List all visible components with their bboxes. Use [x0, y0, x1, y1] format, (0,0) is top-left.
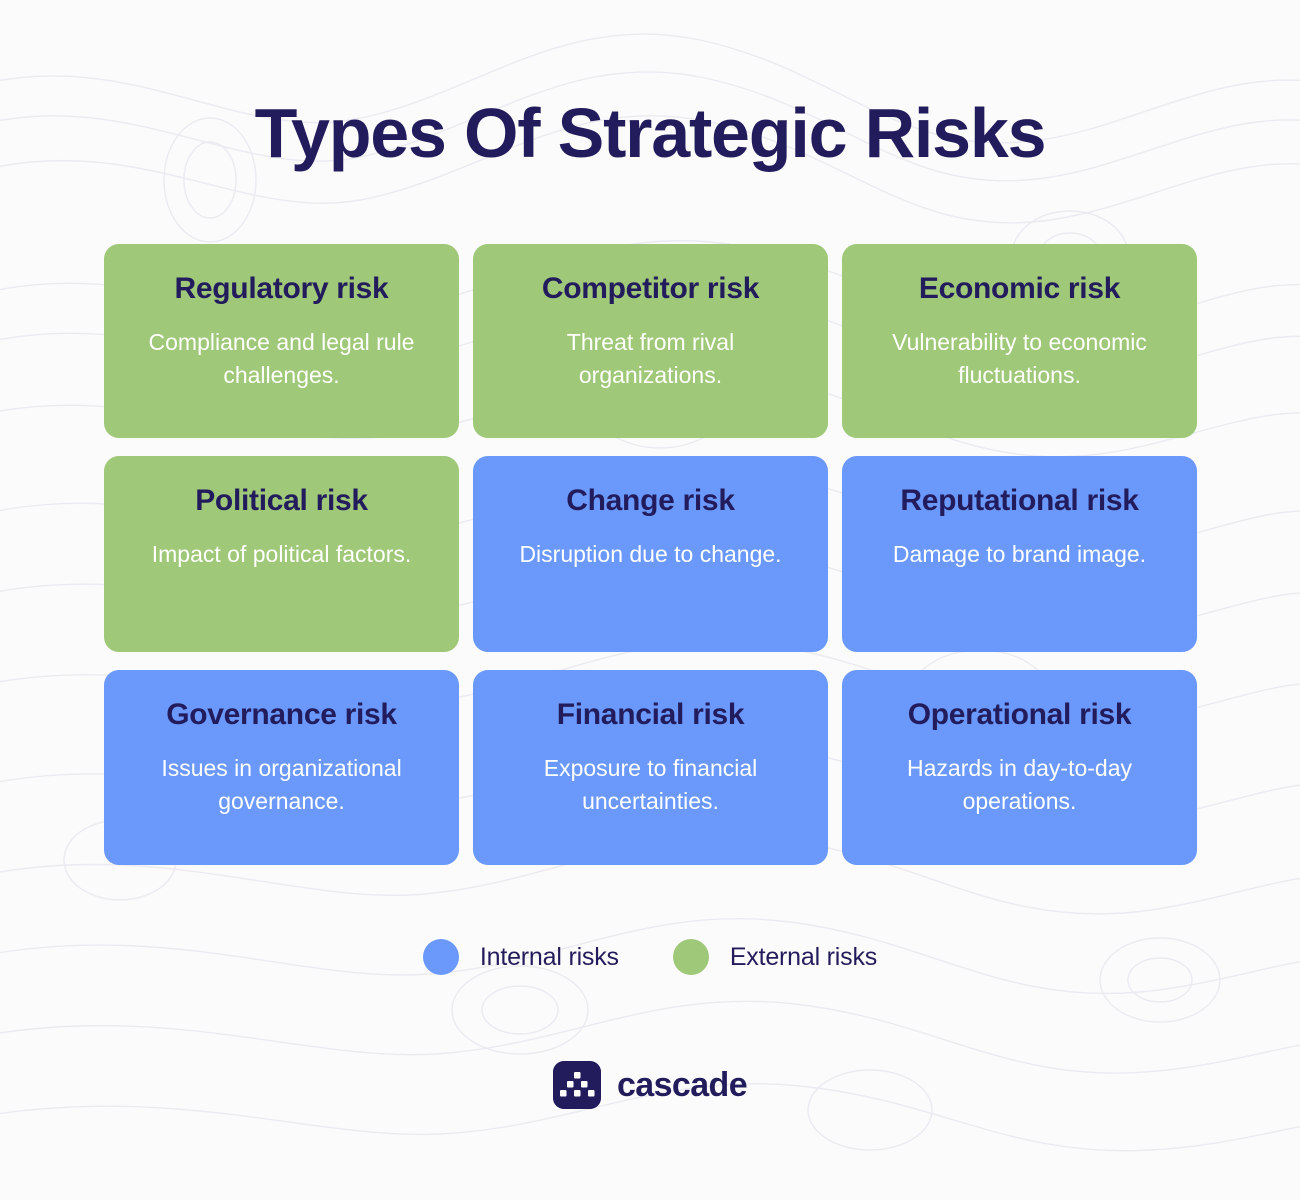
risk-card-financial[interactable]: Financial risk Exposure to financial unc…	[473, 670, 828, 865]
risk-card-title: Economic risk	[919, 272, 1120, 306]
infographic-page: Types Of Strategic Risks Regulatory risk…	[0, 0, 1300, 1200]
page-title: Types Of Strategic Risks	[255, 98, 1046, 168]
risk-card-description: Disruption due to change.	[519, 538, 781, 571]
risk-card-description: Issues in organizational governance.	[130, 752, 433, 819]
risk-card-title: Financial risk	[557, 698, 745, 732]
risk-card-title: Competitor risk	[542, 272, 759, 306]
risk-card-description: Vulnerability to economic fluctuations.	[868, 326, 1171, 393]
risk-card-change[interactable]: Change risk Disruption due to change.	[473, 456, 828, 652]
risk-card-operational[interactable]: Operational risk Hazards in day-to-day o…	[842, 670, 1197, 865]
legend: Internal risks External risks	[423, 939, 877, 975]
risk-card-description: Hazards in day-to-day operations.	[868, 752, 1171, 819]
legend-label-internal: Internal risks	[480, 943, 619, 972]
risk-card-reputational[interactable]: Reputational risk Damage to brand image.	[842, 456, 1197, 652]
cascade-pyramid-icon	[553, 1061, 601, 1109]
legend-item-external: External risks	[673, 939, 877, 975]
legend-dot-internal-icon	[423, 939, 459, 975]
risk-card-competitor[interactable]: Competitor risk Threat from rival organi…	[473, 244, 828, 438]
risk-card-title: Regulatory risk	[175, 272, 389, 306]
risk-card-regulatory[interactable]: Regulatory risk Compliance and legal rul…	[104, 244, 459, 438]
brand-logo: cascade	[553, 1061, 747, 1109]
risk-card-title: Operational risk	[908, 698, 1132, 732]
risk-card-description: Impact of political factors.	[152, 538, 412, 571]
risk-card-title: Reputational risk	[900, 484, 1138, 518]
legend-item-internal: Internal risks	[423, 939, 619, 975]
risk-card-title: Political risk	[195, 484, 368, 518]
risk-card-description: Compliance and legal rule challenges.	[130, 326, 433, 393]
legend-dot-external-icon	[673, 939, 709, 975]
risk-card-title: Governance risk	[166, 698, 397, 732]
brand-name: cascade	[617, 1066, 747, 1105]
risk-card-political[interactable]: Political risk Impact of political facto…	[104, 456, 459, 652]
risk-card-description: Threat from rival organizations.	[499, 326, 802, 393]
risk-card-description: Exposure to financial uncertainties.	[499, 752, 802, 819]
risk-card-description: Damage to brand image.	[893, 538, 1146, 571]
risk-card-title: Change risk	[566, 484, 734, 518]
risk-card-economic[interactable]: Economic risk Vulnerability to economic …	[842, 244, 1197, 438]
legend-label-external: External risks	[730, 943, 877, 972]
risk-card-governance[interactable]: Governance risk Issues in organizational…	[104, 670, 459, 865]
risk-card-grid: Regulatory risk Compliance and legal rul…	[104, 244, 1196, 865]
